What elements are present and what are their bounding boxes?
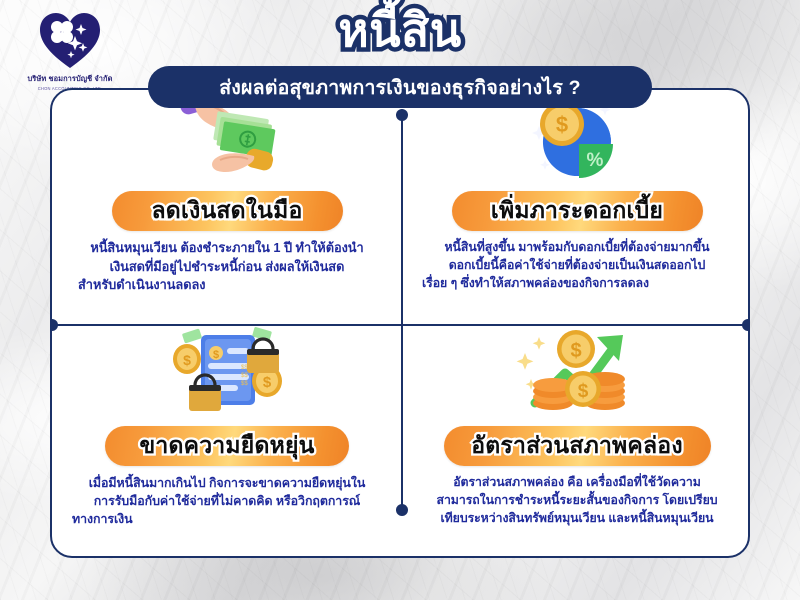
svg-text:%: % <box>587 150 604 171</box>
logo-company-name-th: บริษัท ชอมการบัญชี จำกัด <box>18 73 122 85</box>
quadrant-heading-text: อัตราส่วนสภาพคล่อง <box>471 428 683 464</box>
quadrant-heading-text: ขาดความยืดหยุ่น <box>139 428 314 464</box>
svg-text:$$: $$ <box>241 381 248 387</box>
body-line: เมื่อมีหนี้สินมากเกินไป กิจการจะขาดความย… <box>64 474 390 492</box>
quadrant-body-text: อัตราส่วนสภาพคล่อง คือ เครื่องมือที่ใช้ว… <box>414 474 740 528</box>
quadrant-heading-pill: อัตราส่วนสภาพคล่อง <box>444 426 711 466</box>
svg-text:$: $ <box>183 352 191 368</box>
quadrant-liquidity-ratio: $ $ อัตราส่วนสภาพคล่อง อัตราส่วนสภาพคล่อ… <box>402 325 750 558</box>
body-line: ทางการเงิน <box>64 510 390 528</box>
quadrant-reduce-cash: ลดเงินสดในมือ หนี้สินหมุนเวียน ต้องชำระภ… <box>52 90 402 325</box>
svg-text:$: $ <box>578 381 589 402</box>
coin-stacks-growth-arrow-icon: $ $ <box>414 325 740 421</box>
company-logo: บริษัท ชอมการบัญชี จำกัด CHON ACCOUNTING… <box>18 10 122 91</box>
body-line: สำหรับดำเนินงานลดลง <box>64 276 390 295</box>
svg-text:$: $ <box>263 374 272 391</box>
content-card: ลดเงินสดในมือ หนี้สินหมุนเวียน ต้องชำระภ… <box>50 88 750 558</box>
page-subtitle-text: ส่งผลต่อสุขภาพการเงินของธุรกิจอย่างไร ? <box>219 72 581 103</box>
subtitle-bar: ส่งผลต่อสุขภาพการเงินของธุรกิจอย่างไร ? <box>148 66 652 108</box>
heart-clover-logo-icon <box>37 10 103 72</box>
body-line: เทียบระหว่างสินทรัพย์หมุนเวียน และหนี้สิ… <box>414 510 740 528</box>
body-line: เงินสดที่มีอยู่ไปชำระหนี้ก่อน ส่งผลให้เง… <box>64 258 390 277</box>
quadrant-lack-flexibility: $ $$$$$$ $ $ <box>52 325 402 558</box>
quadrant-body-text: หนี้สินหมุนเวียน ต้องชำระภายใน 1 ปี ทำให… <box>64 239 390 295</box>
quadrant-heading-text: เพิ่มภาระดอกเบี้ย <box>491 193 663 229</box>
quadrant-heading-pill: ขาดความยืดหยุ่น <box>105 426 349 466</box>
svg-text:$: $ <box>556 112 568 137</box>
invoice-coins-bags-icon: $ $$$$$$ $ $ <box>64 325 390 421</box>
svg-text:$$: $$ <box>241 373 248 379</box>
body-line: เรื่อย ๆ ซึ่งทำให้สภาพคล่องของกิจการลดลง <box>414 275 740 293</box>
body-line: สามารถในการชำระหนี้ระยะสั้นของกิจการ โดย… <box>414 492 740 510</box>
quadrant-interest-burden: % $ เพิ่มภาระดอกเบี้ย หนี้สินที่สูงขึ้น … <box>402 90 750 325</box>
quadrant-heading-text: ลดเงินสดในมือ <box>152 193 303 229</box>
quadrant-heading-pill: เพิ่มภาระดอกเบี้ย <box>452 191 703 231</box>
body-line: การรับมือกับค่าใช้จ่ายที่ไม่คาดคิด หรือว… <box>64 492 390 510</box>
quadrant-body-text: หนี้สินที่สูงขึ้น มาพร้อมกับดอกเบี้ยที่ต… <box>414 239 740 293</box>
svg-text:$: $ <box>570 340 581 362</box>
body-line: หนี้สินหมุนเวียน ต้องชำระภายใน 1 ปี ทำให… <box>64 239 390 258</box>
svg-text:$: $ <box>213 349 219 361</box>
body-line: หนี้สินที่สูงขึ้น มาพร้อมกับดอกเบี้ยที่ต… <box>414 239 740 257</box>
quadrant-heading-pill: ลดเงินสดในมือ <box>112 191 343 231</box>
quadrant-body-text: เมื่อมีหนี้สินมากเกินไป กิจการจะขาดความย… <box>64 474 390 528</box>
body-line: ดอกเบี้ยนี้คือค่าใช้จ่ายที่ต้องจ่ายเป็นเ… <box>414 257 740 275</box>
body-line: อัตราส่วนสภาพคล่อง คือ เครื่องมือที่ใช้ว… <box>414 474 740 492</box>
